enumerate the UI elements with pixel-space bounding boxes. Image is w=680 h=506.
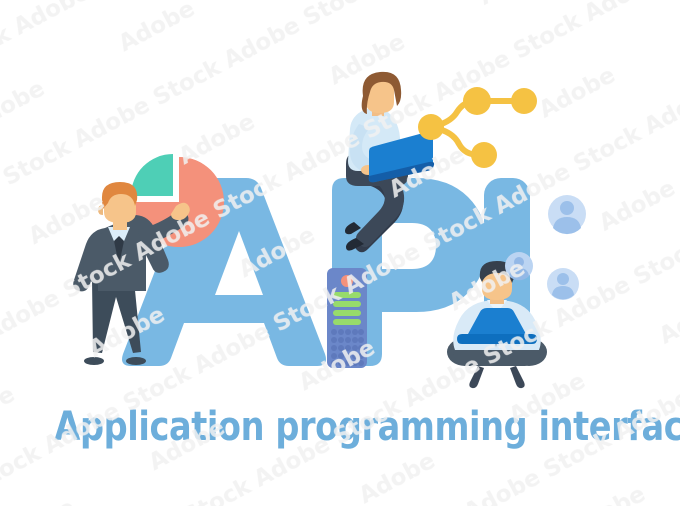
caption-text: Application programming interface	[54, 404, 625, 450]
caption-layer: Application programming interface	[0, 0, 680, 506]
illustration-canvas: Application programming interface Adobe …	[0, 0, 680, 506]
